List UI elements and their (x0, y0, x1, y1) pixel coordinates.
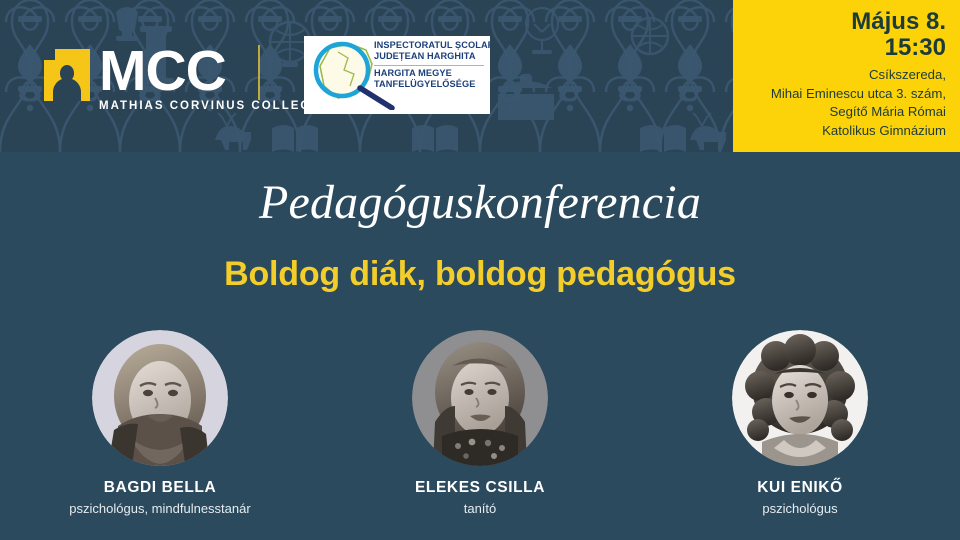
event-time: 15:30 (743, 35, 946, 61)
speaker-list: BAGDI BELLA pszichológus, mindfulnesstan… (0, 330, 960, 516)
avatar (92, 330, 228, 466)
speaker-name: BAGDI BELLA (104, 479, 217, 497)
speaker-name: KUI ENIKŐ (757, 479, 843, 497)
inspectorate-rule (374, 65, 484, 66)
speaker-name: ELEKES CSILLA (415, 479, 545, 497)
speaker-role: pszichológus (762, 501, 837, 516)
mcc-logo: MCC MATHIAS CORVINUS COLLEGIUM (44, 45, 338, 112)
mcc-acronym: MCC (99, 45, 338, 97)
speaker-role: pszichológus, mindfulnesstanár (69, 501, 250, 516)
speaker-card: ELEKES CSILLA tanító (320, 330, 640, 516)
page-title: Pedagóguskonferencia (0, 175, 960, 230)
inspectorate-line-4: TANFELÜGYELŐSÉGE (374, 79, 488, 90)
event-info-banner: Május 8. 15:30 Csíkszereda, Mihai Emines… (733, 0, 960, 152)
speaker-card: KUI ENIKŐ pszichológus (640, 330, 960, 516)
venue-city: Csíkszereda, (743, 66, 946, 85)
mcc-logomark-icon (44, 49, 90, 101)
logo-divider (258, 45, 260, 100)
avatar (732, 330, 868, 466)
mcc-tagline: MATHIAS CORVINUS COLLEGIUM (99, 100, 338, 112)
venue-name-line-1: Segítő Mária Római (743, 103, 946, 122)
event-date: Május 8. (743, 9, 946, 35)
venue-name-line-2: Katolikus Gimnázium (743, 122, 946, 141)
venue-street: Mihai Eminescu utca 3. szám, (743, 85, 946, 104)
event-poster: MCC MATHIAS CORVINUS COLLEGIUM INSPECTOR… (0, 0, 960, 540)
inspectorate-logo: INSPECTORATUL ȘCOLAR JUDEȚEAN HARGHITA H… (304, 36, 490, 114)
inspectorate-line-2: JUDEȚEAN HARGHITA (374, 51, 488, 62)
page-subtitle: Boldog diák, boldog pedagógus (0, 255, 960, 294)
speaker-card: BAGDI BELLA pszichológus, mindfulnesstan… (0, 330, 320, 516)
inspectorate-line-3: HARGITA MEGYE (374, 68, 488, 79)
avatar (412, 330, 548, 466)
inspectorate-line-1: INSPECTORATUL ȘCOLAR (374, 40, 488, 51)
speaker-role: tanító (464, 501, 497, 516)
poster-header: MCC MATHIAS CORVINUS COLLEGIUM INSPECTOR… (0, 0, 960, 152)
